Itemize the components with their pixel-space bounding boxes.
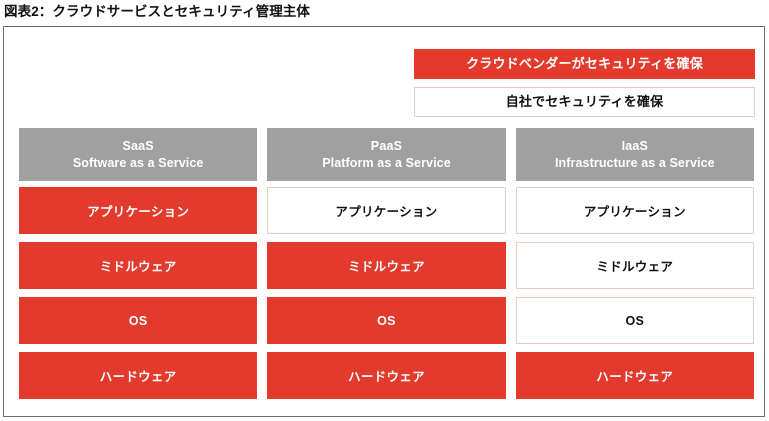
column-paas: PaaS Platform as a Service アプリケーション ミドルウ… (267, 128, 505, 399)
service-columns: SaaS Software as a Service アプリケーション ミドルウ… (19, 128, 754, 399)
layer-cell-middleware: ミドルウェア (19, 242, 257, 289)
column-abbr: IaaS (622, 138, 649, 155)
column-iaas: IaaS Infrastructure as a Service アプリケーショ… (516, 128, 754, 399)
legend-item-self: 自社でセキュリティを確保 (414, 87, 755, 117)
figure-root: 図表2：クラウドサービスとセキュリティ管理主体 クラウドベンダーがセキュリティを… (0, 0, 769, 421)
layer-cell-application: アプリケーション (19, 187, 257, 234)
column-fullname: Platform as a Service (322, 155, 451, 172)
layer-cell-os: OS (19, 297, 257, 344)
layer-cell-os: OS (267, 297, 505, 344)
legend-item-vendor: クラウドベンダーがセキュリティを確保 (414, 49, 755, 79)
layer-cell-application: アプリケーション (267, 187, 505, 234)
column-fullname: Software as a Service (73, 155, 204, 172)
layer-cell-hardware: ハードウェア (267, 352, 505, 399)
column-saas: SaaS Software as a Service アプリケーション ミドルウ… (19, 128, 257, 399)
layer-cell-application: アプリケーション (516, 187, 754, 234)
figure-title: 図表2：クラウドサービスとセキュリティ管理主体 (4, 2, 744, 22)
layer-cell-hardware: ハードウェア (516, 352, 754, 399)
diagram-frame: クラウドベンダーがセキュリティを確保 自社でセキュリティを確保 SaaS Sof… (3, 26, 765, 417)
column-header-paas: PaaS Platform as a Service (267, 128, 505, 181)
column-abbr: SaaS (122, 138, 153, 155)
layer-cell-hardware: ハードウェア (19, 352, 257, 399)
column-fullname: Infrastructure as a Service (555, 155, 715, 172)
column-abbr: PaaS (371, 138, 402, 155)
layer-cell-middleware: ミドルウェア (516, 242, 754, 289)
layer-cell-middleware: ミドルウェア (267, 242, 505, 289)
layer-cell-os: OS (516, 297, 754, 344)
column-header-iaas: IaaS Infrastructure as a Service (516, 128, 754, 181)
legend: クラウドベンダーがセキュリティを確保 自社でセキュリティを確保 (414, 49, 755, 117)
column-header-saas: SaaS Software as a Service (19, 128, 257, 181)
